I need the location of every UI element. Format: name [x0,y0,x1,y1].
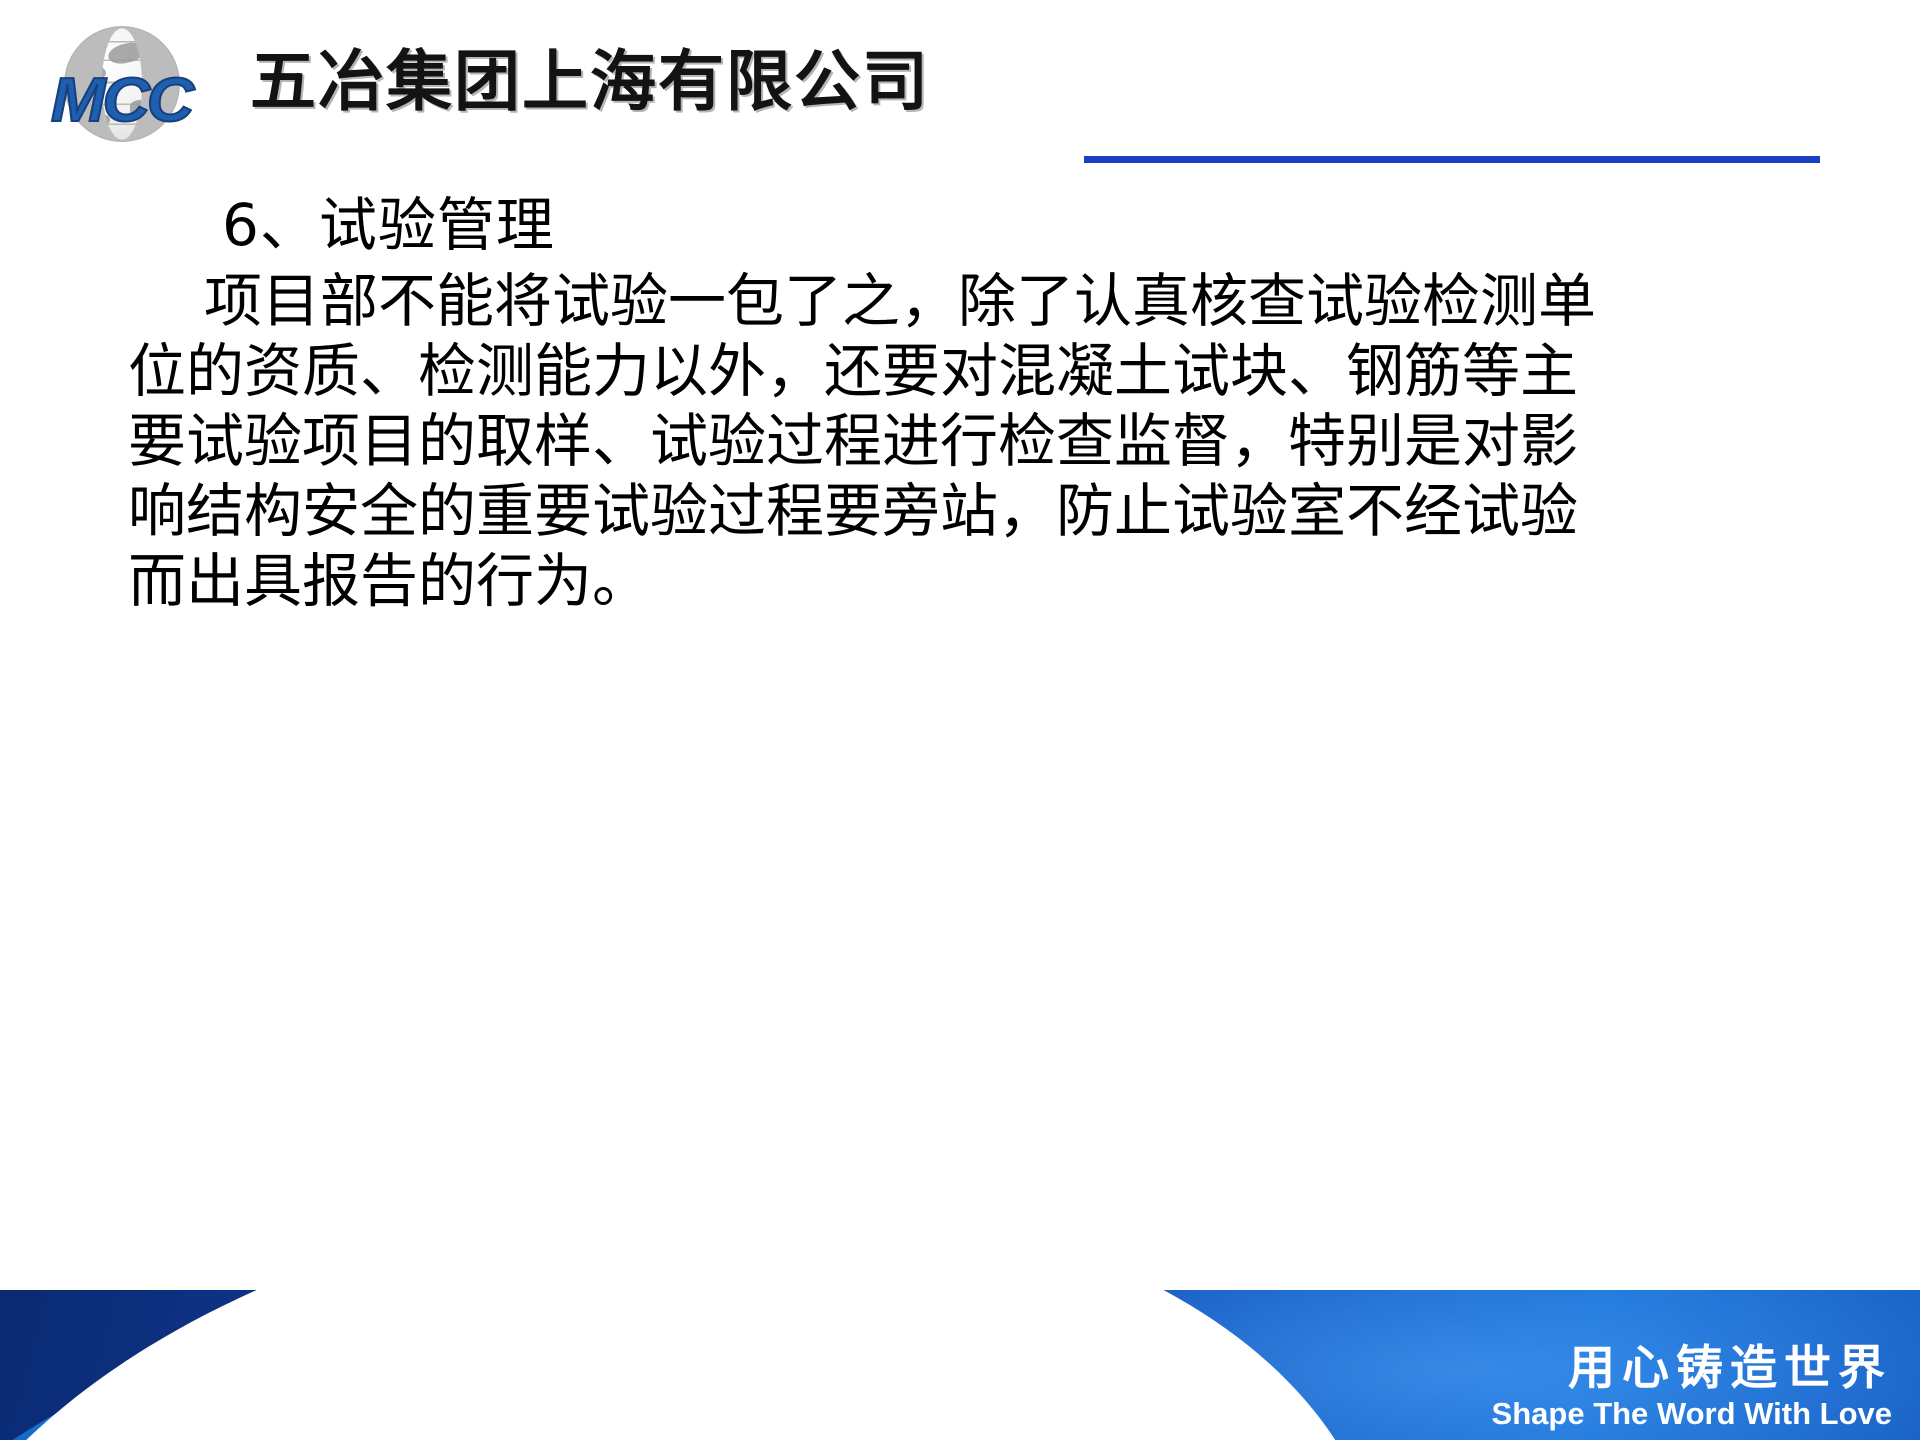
slide-body: 6、试验管理 项目部不能将试验一包了之，除了认真核查试验检测单 位的资质、检测能… [0,188,1920,616]
footer-slogan: 用心铸造世界 Shape The Word With Love [1492,1342,1892,1432]
company-name: 五冶集团上海有限公司 [250,44,930,120]
slide-footer: 用心铸造世界 Shape The Word With Love [0,1290,1920,1440]
slogan-chinese: 用心铸造世界 [1492,1342,1892,1396]
paragraph-line: 响结构安全的重要试验过程要旁站，防止试验室不经试验 [128,476,1800,546]
paragraph-line: 项目部不能将试验一包了之，除了认真核查试验检测单 [128,266,1800,336]
paragraph-line: 位的资质、检测能力以外，还要对混凝土试块、钢筋等主 [128,336,1800,406]
header-divider [1084,156,1820,163]
section-heading: 6、试验管理 [0,188,1920,262]
logo-wordmark: MCC [20,68,221,134]
slide-header: MCC 五冶集团上海有限公司 [0,0,1920,178]
globe-landmass [106,41,143,67]
slide-canvas: MCC 五冶集团上海有限公司 6、试验管理 项目部不能将试验一包了之，除了认真核… [0,0,1920,1440]
body-paragraph: 项目部不能将试验一包了之，除了认真核查试验检测单 位的资质、检测能力以外，还要对… [0,266,1920,616]
slogan-english: Shape The Word With Love [1492,1396,1892,1432]
mcc-logo: MCC [26,24,216,144]
paragraph-line: 要试验项目的取样、试验过程进行检查监督，特别是对影 [128,406,1800,476]
footer-wave-light [0,1290,1382,1440]
paragraph-line: 而出具报告的行为。 [128,546,1800,616]
